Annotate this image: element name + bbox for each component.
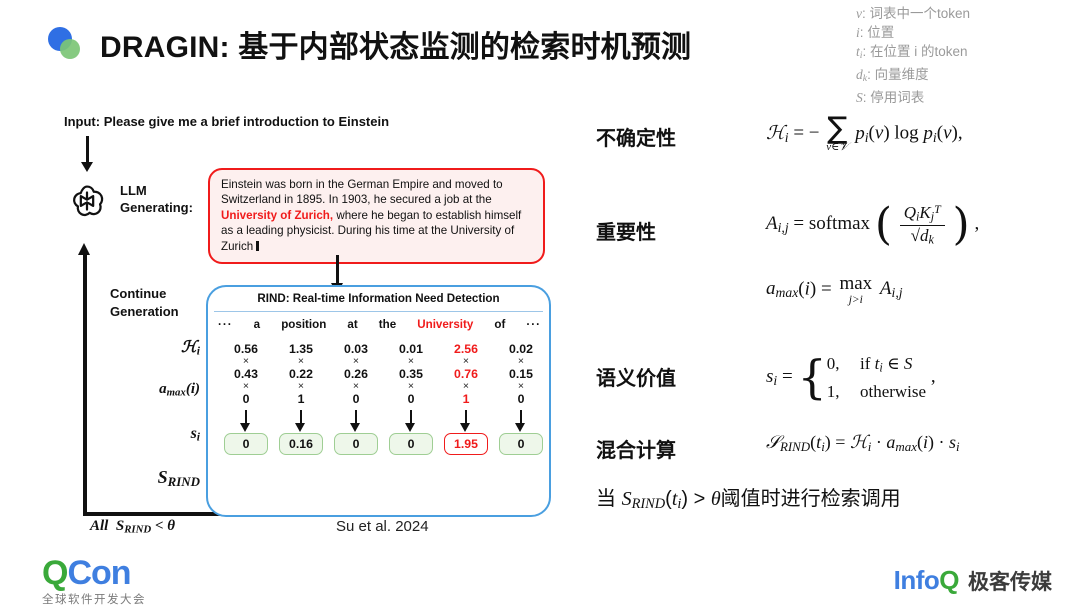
arrow-down-icon xyxy=(224,408,268,432)
rind-value-grid: 0.56 1.35 0.03 0.01 2.56 0.02 × × × × × … xyxy=(224,342,543,455)
semantic-value-highlight: 1 xyxy=(444,392,488,406)
rind-score-box: 0 xyxy=(334,433,378,455)
all-below-threshold-label: All SRIND < θ xyxy=(90,518,175,535)
token-row: ··· a position at the University of ··· xyxy=(218,318,541,331)
threshold-note: 当 SRIND(ti) > θ阈值时进行检索调用 xyxy=(596,482,1066,522)
formula-semantic: 语义价值 si = {0, if ti ∈ S1, otherwise , xyxy=(596,344,1066,422)
formula-label-uncertainty: 不确定性 xyxy=(596,122,676,151)
rind-score-box: 0.16 xyxy=(279,433,323,455)
semantic-value: 0 xyxy=(389,392,433,406)
qcon-logo: QCon 全球软件开发大会 xyxy=(42,556,146,607)
result-arrow-row xyxy=(224,408,543,432)
row-label-score: SRIND xyxy=(158,467,200,490)
entropy-value: 0.03 xyxy=(334,342,378,356)
token-ellipsis-left: ··· xyxy=(218,318,233,331)
notation-legend: v: 词表中一个token i: 位置 ti: 在位置 i 的token dk:… xyxy=(856,4,1068,107)
attention-value: 0.22 xyxy=(279,367,323,381)
multiply-operator: × xyxy=(224,356,268,367)
infoq-letter-q: Q xyxy=(939,565,959,595)
feedback-arrow-icon xyxy=(83,255,87,515)
qcon-wordmark: QCon xyxy=(42,556,146,590)
rind-divider xyxy=(214,311,543,312)
operator-row: × × × × × × xyxy=(224,381,543,392)
geek-media-label: 极客传媒 xyxy=(968,566,1052,596)
formula-combination: 混合计算 𝒮RIND(ti) = ℋi · amax(i) · si xyxy=(596,422,1066,482)
multiply-operator: × xyxy=(224,381,268,392)
qcon-letters-con: Con xyxy=(67,554,130,592)
generated-text-highlight: University of Zurich, xyxy=(221,209,333,222)
qcon-subtitle: 全球软件开发大会 xyxy=(42,591,146,607)
row-label-semantic: si xyxy=(191,425,200,444)
multiply-operator: × xyxy=(279,356,323,367)
formula-semantic-expression: si = {0, if ti ∈ S1, otherwise , xyxy=(766,352,936,404)
legend-item-v: v: 词表中一个token xyxy=(856,4,1068,23)
token-item: the xyxy=(379,318,396,331)
formula-column: 不确定性 ℋi = − ∑v∈𝒱 pi(v) log pi(v), 重要性 Ai… xyxy=(596,112,1066,522)
arrow-down-icon xyxy=(389,408,433,432)
formula-amax-expression: amax(i) = maxj>i Ai,j xyxy=(766,274,903,306)
legend-item-S: S: 停用词表 xyxy=(856,88,1068,107)
entropy-value: 0.02 xyxy=(499,342,543,356)
formula-label-importance: 重要性 xyxy=(596,216,656,245)
token-ellipsis-right: ··· xyxy=(526,318,541,331)
arrow-to-rind-icon xyxy=(336,255,339,283)
rind-score-box: 0 xyxy=(389,433,433,455)
infoq-letters-info: Info xyxy=(894,565,940,595)
bullet-dots-icon xyxy=(48,27,82,61)
multiply-operator: × xyxy=(389,381,433,392)
attention-value-row: 0.43 0.22 0.26 0.35 0.76 0.15 xyxy=(224,367,543,381)
infoq-wordmark: InfoQ xyxy=(894,567,959,593)
multiply-operator: × xyxy=(499,356,543,367)
rind-score-box-alert: 1.95 xyxy=(444,433,488,455)
slide: DRAGIN: 基于内部状态监测的检索时机预测 v: 词表中一个token i:… xyxy=(0,0,1080,608)
multiply-operator: × xyxy=(444,356,488,367)
qcon-letter-q: Q xyxy=(42,554,67,592)
semantic-value: 0 xyxy=(499,392,543,406)
dragin-figure: Input: Please give me a brief introducti… xyxy=(56,100,576,545)
formula-amax: amax(i) = maxj>i Ai,j xyxy=(596,274,1066,344)
formula-importance: 重要性 Ai,j = softmax ( QiKjT√dk ) , xyxy=(596,188,1066,274)
rind-score-row: 0 0.16 0 0 1.95 0 xyxy=(224,433,543,455)
token-item: position xyxy=(281,318,326,331)
token-item-highlight: University xyxy=(417,318,473,331)
arrow-down-icon xyxy=(499,408,543,432)
token-item: of xyxy=(494,318,505,331)
attention-value: 0.35 xyxy=(389,367,433,381)
generated-text-part1: Einstein was born in the German Empire a… xyxy=(221,178,503,206)
formula-uncertainty: 不确定性 ℋi = − ∑v∈𝒱 pi(v) log pi(v), xyxy=(596,112,1066,188)
entropy-value-highlight: 2.56 xyxy=(444,342,488,356)
rind-title: RIND: Real-time Information Need Detecti… xyxy=(208,292,549,305)
token-item: a xyxy=(254,318,260,331)
attention-value: 0.43 xyxy=(224,367,268,381)
llm-generating-label: LLMGenerating: xyxy=(120,182,193,216)
multiply-operator: × xyxy=(444,381,488,392)
rind-score-box: 0 xyxy=(499,433,543,455)
arrow-down-icon xyxy=(279,408,323,432)
generated-text-card: Einstein was born in the German Empire a… xyxy=(208,168,545,264)
attention-value: 0.26 xyxy=(334,367,378,381)
rind-score-box: 0 xyxy=(224,433,268,455)
formula-uncertainty-expression: ℋi = − ∑v∈𝒱 pi(v) log pi(v), xyxy=(766,116,963,153)
entropy-value: 0.56 xyxy=(224,342,268,356)
semantic-value: 0 xyxy=(224,392,268,406)
semantic-value-row: 0 1 0 0 1 0 xyxy=(224,392,543,406)
multiply-operator: × xyxy=(389,356,433,367)
row-label-attention: amax(i) xyxy=(159,381,200,398)
legend-item-i: i: 位置 xyxy=(856,23,1068,42)
attention-value: 0.15 xyxy=(499,367,543,381)
formula-label-semantic: 语义价值 xyxy=(596,362,676,391)
arrow-down-icon xyxy=(444,408,488,432)
multiply-operator: × xyxy=(499,381,543,392)
arrow-down-icon xyxy=(86,136,89,162)
legend-item-dk: dk: 向量维度 xyxy=(856,65,1068,88)
openai-logo-icon xyxy=(66,180,108,222)
entropy-value-row: 0.56 1.35 0.03 0.01 2.56 0.02 xyxy=(224,342,543,356)
attention-value-highlight: 0.76 xyxy=(444,367,488,381)
operator-row: × × × × × × xyxy=(224,356,543,367)
multiply-operator: × xyxy=(334,356,378,367)
arrow-down-icon xyxy=(334,408,378,432)
formula-combination-expression: 𝒮RIND(ti) = ℋi · amax(i) · si xyxy=(766,432,960,455)
multiply-operator: × xyxy=(279,381,323,392)
formula-importance-expression: Ai,j = softmax ( QiKjT√dk ) , xyxy=(766,202,979,247)
entropy-value: 0.01 xyxy=(389,342,433,356)
formula-label-combination: 混合计算 xyxy=(596,434,676,463)
entropy-value: 1.35 xyxy=(279,342,323,356)
text-caret-icon xyxy=(256,241,259,251)
token-item: at xyxy=(347,318,357,331)
threshold-note-text: 当 SRIND(ti) > θ阈值时进行检索调用 xyxy=(596,482,901,513)
legend-item-ti: ti: 在位置 i 的token xyxy=(856,42,1068,65)
infoq-logo: InfoQ 极客传媒 xyxy=(894,566,1052,596)
rind-panel: RIND: Real-time Information Need Detecti… xyxy=(206,285,551,517)
semantic-value: 0 xyxy=(334,392,378,406)
page-title: DRAGIN: 基于内部状态监测的检索时机预测 xyxy=(100,22,691,66)
multiply-operator: × xyxy=(334,381,378,392)
citation-label: Su et al. 2024 xyxy=(336,518,429,535)
figure-input-text: Input: Please give me a brief introducti… xyxy=(64,114,389,129)
continue-generation-label: ContinueGeneration xyxy=(110,285,179,321)
row-label-entropy: ℋi xyxy=(181,337,200,358)
slide-title: DRAGIN: 基于内部状态监测的检索时机预测 xyxy=(48,22,691,66)
semantic-value: 1 xyxy=(279,392,323,406)
